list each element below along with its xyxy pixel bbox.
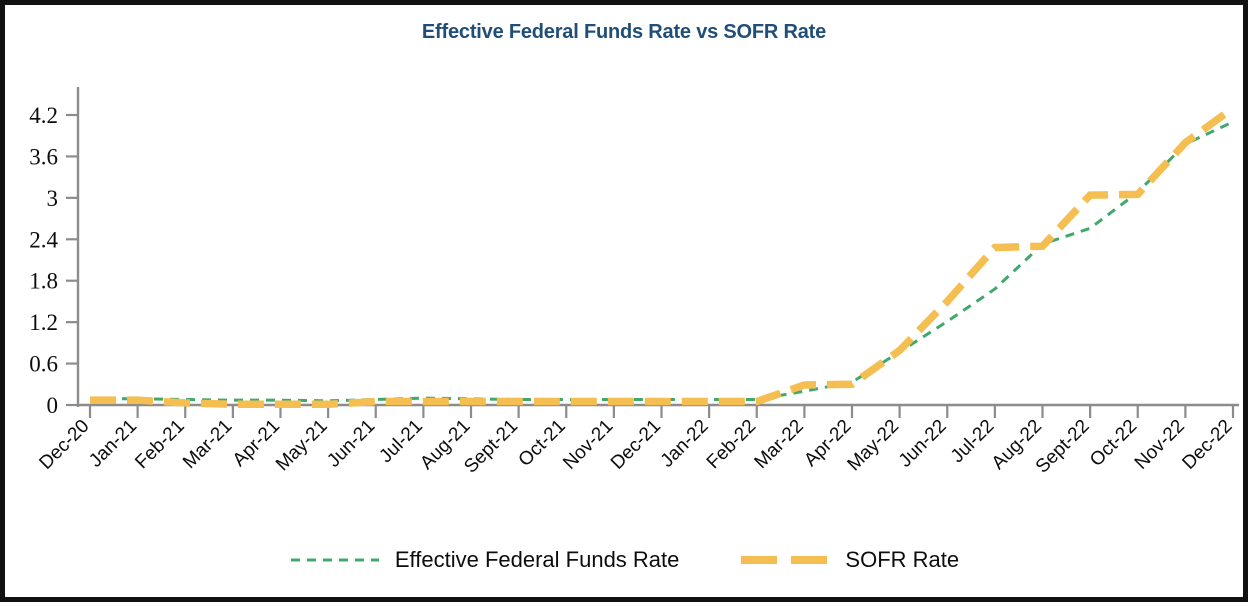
legend-swatch-dashed-thick-icon — [739, 552, 831, 568]
x-tick-label: May-21 — [272, 416, 332, 476]
x-tick-label: Feb-21 — [131, 416, 188, 473]
y-axis: 00.61.21.82.433.64.2 — [29, 87, 78, 418]
y-tick-label: 4.2 — [29, 103, 58, 128]
y-tick-label: 0.6 — [29, 352, 58, 377]
x-tick-label: Sept-22 — [1032, 416, 1094, 478]
x-tick-label: Jun-21 — [323, 416, 379, 472]
legend-item[interactable]: Effective Federal Funds Rate — [289, 547, 680, 573]
x-tick-label: Dec-20 — [35, 416, 93, 474]
y-tick-label: 2.4 — [29, 227, 58, 252]
legend-swatch-dashed-thin-icon — [289, 552, 381, 568]
y-tick-label: 3.6 — [29, 144, 58, 169]
x-tick-label: May-22 — [844, 416, 904, 476]
x-tick-label: Dec-22 — [1178, 416, 1236, 474]
chart-frame: Effective Federal Funds Rate vs SOFR Rat… — [0, 0, 1248, 602]
y-tick-label: 1.2 — [29, 310, 58, 335]
x-tick-label: Feb-22 — [703, 416, 760, 473]
plot-area: 00.61.21.82.433.64.2 Dec-20Jan-21Feb-21M… — [5, 5, 1248, 607]
x-tick-label: Jan-22 — [657, 416, 713, 472]
x-tick-label: Jun-22 — [895, 416, 951, 472]
x-tick-label: Mar-22 — [751, 416, 808, 473]
chart-legend: Effective Federal Funds RateSOFR Rate — [5, 547, 1243, 573]
series-line — [90, 122, 1233, 401]
legend-item[interactable]: SOFR Rate — [739, 547, 959, 573]
y-tick-label: 1.8 — [29, 269, 58, 294]
chart-canvas: 00.61.21.82.433.64.2 Dec-20Jan-21Feb-21M… — [5, 5, 1248, 607]
data-series — [90, 108, 1233, 404]
x-tick-label: Nov-21 — [559, 416, 617, 474]
x-tick-label: Dec-21 — [607, 416, 665, 474]
legend-label: Effective Federal Funds Rate — [395, 547, 680, 573]
x-tick-label: Jan-21 — [85, 416, 141, 472]
x-axis: Dec-20Jan-21Feb-21Mar-21Apr-21May-21Jun-… — [35, 405, 1239, 478]
legend-label: SOFR Rate — [845, 547, 959, 573]
series-line — [90, 108, 1233, 404]
x-tick-label: Sept-21 — [460, 416, 522, 478]
x-tick-label: Mar-21 — [179, 416, 236, 473]
x-tick-label: Nov-22 — [1131, 416, 1189, 474]
y-tick-label: 3 — [47, 186, 59, 211]
y-tick-label: 0 — [47, 393, 59, 418]
